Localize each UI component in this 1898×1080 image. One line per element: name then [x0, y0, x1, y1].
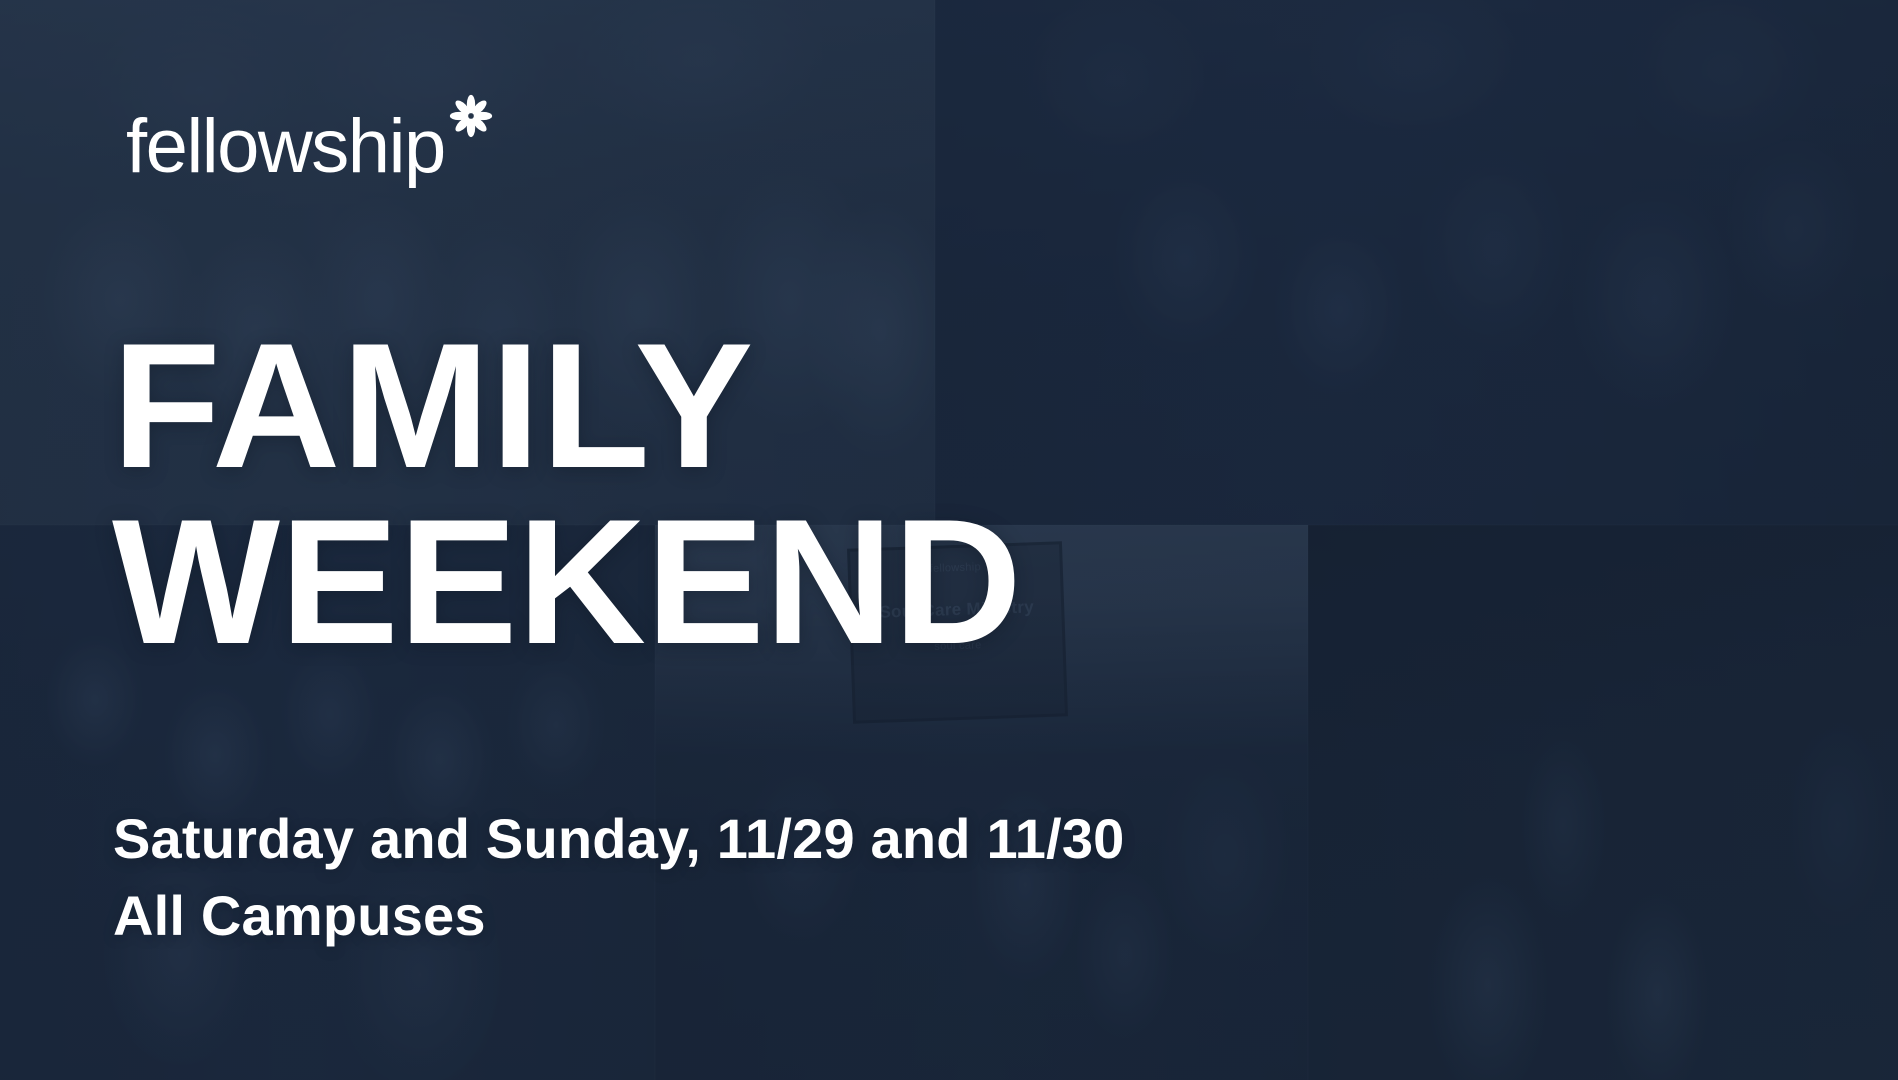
eight-petal-flower-icon — [449, 94, 493, 138]
logo-wordmark: fellowship — [126, 112, 445, 182]
poster-content: fellowship FAMILY WEEKEND Saturday and S — [0, 0, 1898, 1080]
event-details: Saturday and Sunday, 11/29 and 11/30 All… — [113, 800, 1125, 955]
headline-line-1: FAMILY — [112, 318, 1022, 494]
page-title: FAMILY WEEKEND — [112, 318, 1022, 670]
fellowship-logo: fellowship — [126, 112, 493, 182]
family-weekend-poster: fellowship Soul Care Ministry soul care … — [0, 0, 1898, 1080]
headline-line-2: WEEKEND — [112, 494, 1022, 670]
event-location: All Campuses — [113, 877, 1125, 954]
event-dates: Saturday and Sunday, 11/29 and 11/30 — [113, 800, 1125, 877]
